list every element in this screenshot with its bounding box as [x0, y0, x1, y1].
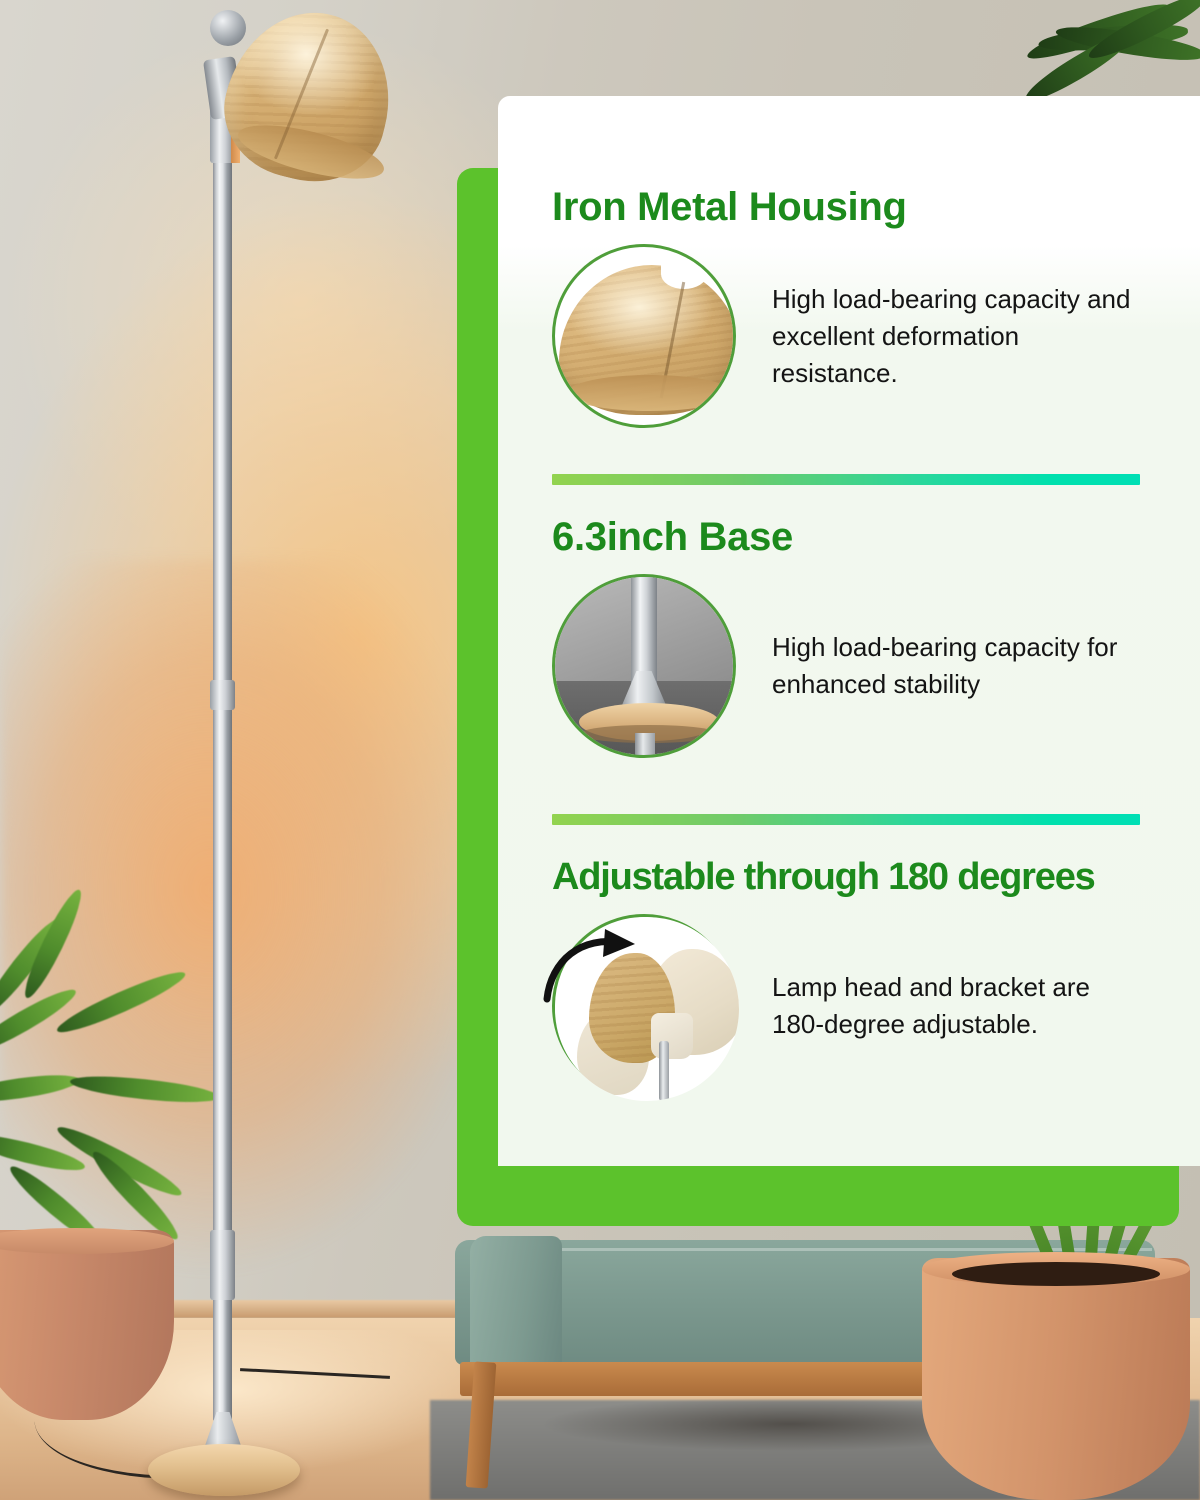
feature-block-iron-metal-housing: Iron Metal Housing High load-bearing cap…: [552, 184, 1182, 428]
shade-rim: [567, 375, 733, 411]
feature-card: Iron Metal Housing High load-bearing cap…: [498, 96, 1200, 1166]
lamp-pole: [213, 92, 232, 1422]
lamp-pole-ring-mid: [210, 680, 235, 710]
divider-1: [552, 474, 1140, 485]
feature-body: High load-bearing capacity for enhanced …: [772, 629, 1142, 703]
lamp-bracket-rod: [659, 1041, 669, 1101]
pot-soil-right: [952, 1262, 1160, 1286]
feature-block-adjustable: Adjustable through 180 degrees: [552, 854, 1182, 1098]
divider-2: [552, 814, 1140, 825]
lamp-pivot-knob: [210, 10, 246, 46]
lampshade-closeup-photo: [552, 244, 736, 428]
rotation-arrow-icon: [545, 927, 665, 1007]
lamp-base-disc: [148, 1444, 300, 1496]
sofa-arm: [470, 1236, 562, 1371]
base-pole-reflection: [635, 733, 655, 758]
lamp-pole-ring-lower: [210, 1230, 235, 1300]
feature-body: Lamp head and bracket are 180-degree adj…: [772, 969, 1142, 1043]
feature-title: Iron Metal Housing: [552, 184, 1182, 230]
feature-block-base: 6.3inch Base High load-bearing capacity …: [552, 514, 1182, 758]
feature-title: Adjustable through 180 degrees: [552, 854, 1182, 900]
feature-title: 6.3inch Base: [552, 514, 1182, 560]
infographic-stage: Iron Metal Housing High load-bearing cap…: [0, 0, 1200, 1500]
terracotta-pot-right: [922, 1258, 1190, 1500]
feature-body: High load-bearing capacity and excellent…: [772, 281, 1142, 392]
lamp-head-rotation-photo: [552, 914, 736, 1098]
lamp-base-closeup-photo: [552, 574, 736, 758]
lamp-socket: [651, 1013, 693, 1059]
